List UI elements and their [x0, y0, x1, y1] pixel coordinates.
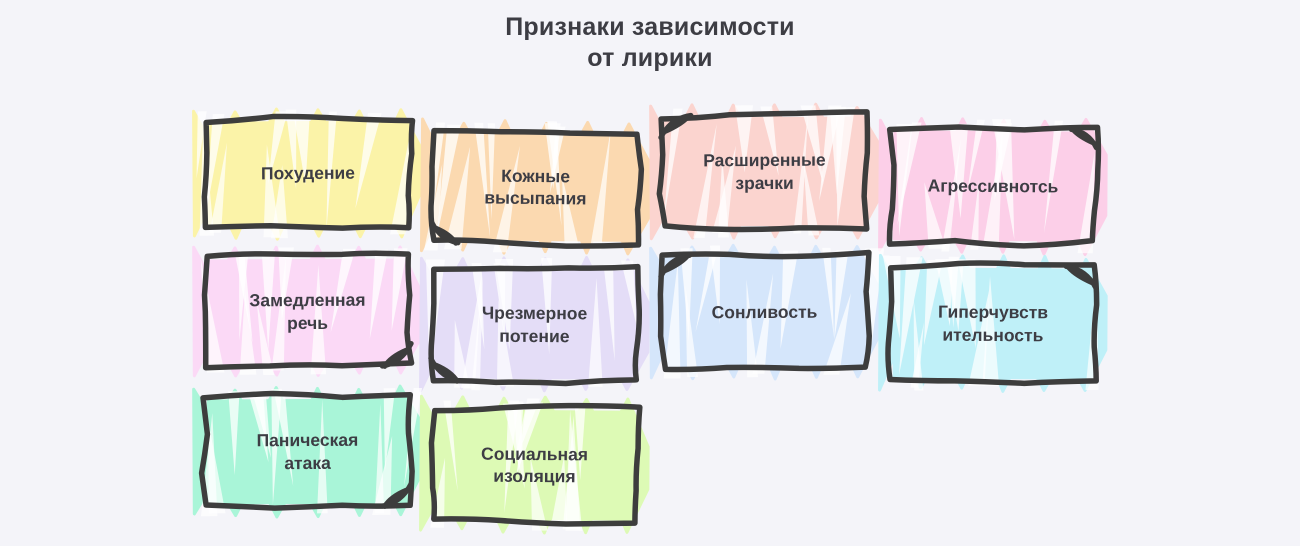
symptom-card[interactable]: Замедленная речь — [203, 254, 413, 368]
symptom-card[interactable]: Сонливость — [660, 252, 870, 371]
card-sketch — [188, 379, 428, 523]
card-sketch — [188, 101, 429, 246]
card-sketch — [415, 113, 655, 261]
card-sketch — [414, 250, 654, 399]
card-sketch — [645, 237, 885, 386]
page-title: Признаки зависимости от лирики — [0, 12, 1300, 73]
symptom-card[interactable]: Паническая атака — [203, 394, 413, 508]
symptom-card[interactable]: Гиперчувств ительность — [889, 263, 1098, 383]
card-sketch — [414, 390, 654, 540]
symptom-card[interactable]: Расширенные зрачки — [660, 112, 870, 230]
card-sketch — [873, 111, 1112, 261]
symptom-card[interactable]: Похудение — [203, 116, 414, 230]
card-sketch — [645, 97, 885, 245]
symptom-card[interactable]: Кожные высыпания — [430, 128, 640, 246]
symptom-card[interactable]: Агрессивнотсь — [889, 126, 1098, 245]
cards-board: ПохудениеКожные высыпанияРасширенные зра… — [0, 96, 1300, 546]
symptom-card[interactable]: Чрезмерное потение — [430, 265, 640, 383]
card-sketch — [873, 248, 1112, 399]
symptom-card[interactable]: Социальная изоляция — [430, 405, 640, 524]
card-sketch — [188, 239, 428, 383]
